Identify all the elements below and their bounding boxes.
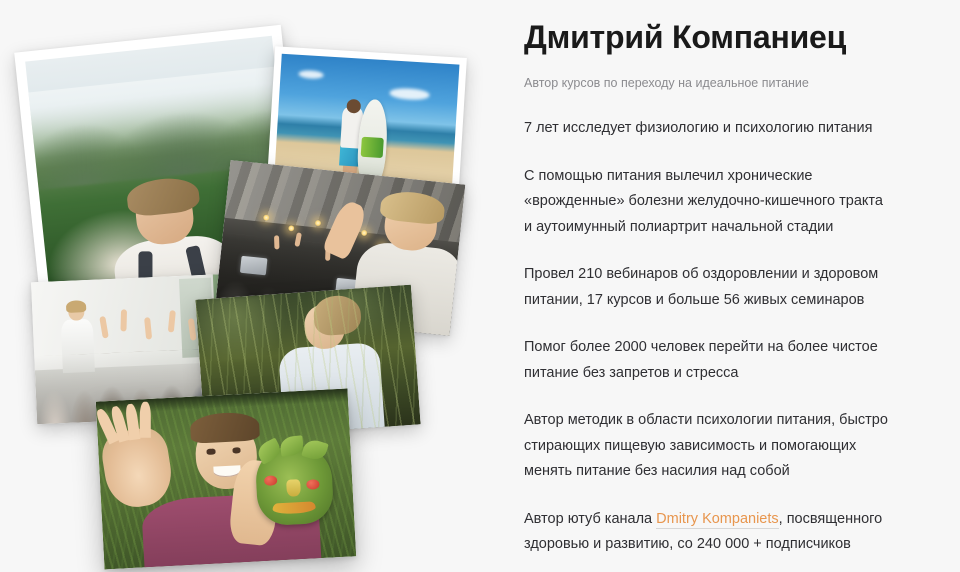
veggie-person-eye-left bbox=[207, 449, 216, 455]
surfboard-graphic bbox=[360, 137, 384, 158]
bio-paragraph-3: Провел 210 вебинаров об оздоровлении и з… bbox=[524, 240, 892, 313]
profile-subtitle: Автор курсов по переходу на идеальное пи… bbox=[524, 56, 924, 92]
veggie-person-hair bbox=[189, 412, 260, 444]
youtube-text-before: Автор ютуб канала bbox=[524, 511, 656, 527]
ceiling-lamp-icon bbox=[287, 224, 295, 232]
bio-paragraph-2: С помощью питания вылечил хронические «в… bbox=[524, 142, 892, 241]
surfer-person bbox=[282, 54, 460, 65]
surfer-head bbox=[346, 99, 361, 114]
bio-paragraph-5: Автор методик в области психологии питан… bbox=[524, 386, 892, 485]
photo-veggie-face-selfie-image bbox=[96, 389, 356, 570]
speaker-hair bbox=[66, 300, 86, 313]
bio-paragraph-youtube: Автор ютуб канала Dmitry Kompaniets, пос… bbox=[524, 485, 892, 558]
profile-page: Дмитрий Компаниец Автор курсов по перехо… bbox=[0, 0, 960, 572]
laptop-icon bbox=[240, 256, 268, 276]
vegetable-face-sculpture bbox=[255, 445, 335, 526]
youtube-channel-link[interactable]: Dmitry Kompaniets bbox=[656, 511, 778, 529]
profile-text-column: Дмитрий Компаниец Автор курсов по перехо… bbox=[524, 0, 924, 572]
page-title: Дмитрий Компаниец bbox=[524, 0, 924, 56]
cloud-icon bbox=[390, 88, 430, 101]
raised-hand-icon bbox=[274, 235, 279, 249]
cloud-icon bbox=[298, 70, 323, 79]
bio-paragraph-4: Помог более 2000 человек перейти на боле… bbox=[524, 313, 892, 386]
photo-veggie-face-selfie bbox=[96, 389, 356, 570]
raised-hand-icon bbox=[120, 310, 127, 332]
bio-paragraph-1: 7 лет исследует физиологию и психологию … bbox=[524, 92, 892, 142]
veggie-person-eye-right bbox=[232, 447, 241, 453]
vegetable-nose bbox=[287, 479, 301, 497]
tomato-icon bbox=[264, 476, 277, 487]
vegetable-mouth bbox=[273, 501, 316, 514]
finger bbox=[140, 402, 151, 438]
tomato-icon bbox=[306, 480, 319, 491]
photo-collage bbox=[0, 0, 500, 572]
